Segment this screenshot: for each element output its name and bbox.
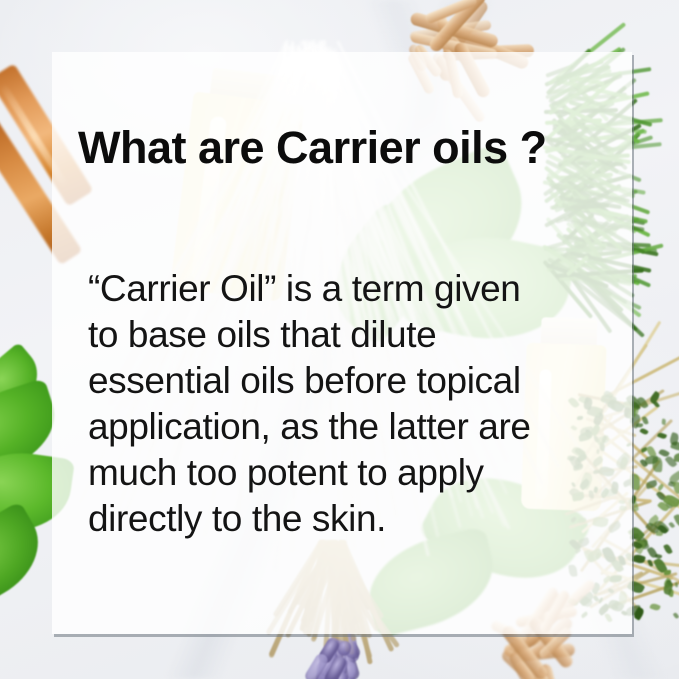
thyme-leaf [658, 432, 668, 440]
thyme-leaf [669, 521, 675, 528]
body-line: to base oils that dilute [88, 312, 618, 358]
text-overlay-card: What are Carrier oils ? “Carrier Oil” is… [52, 52, 632, 634]
body-line: essential oils before topical [88, 358, 618, 404]
thyme-leaf [636, 422, 643, 427]
thyme-leaf [673, 612, 679, 619]
infographic-canvas: What are Carrier oils ? “Carrier Oil” is… [0, 0, 679, 679]
page-title: What are Carrier oils ? [78, 122, 547, 174]
thyme-leaf [649, 602, 661, 612]
thyme-leaf [663, 544, 673, 555]
body-line: much too potent to apply [88, 450, 618, 496]
body-line: “Carrier Oil” is a term given [88, 266, 618, 312]
body-paragraph: “Carrier Oil” is a term given to base oi… [88, 266, 618, 542]
body-line: application, as the latter are [88, 404, 618, 450]
body-line: directly to the skin. [88, 496, 618, 542]
thyme-leaf [639, 428, 649, 437]
